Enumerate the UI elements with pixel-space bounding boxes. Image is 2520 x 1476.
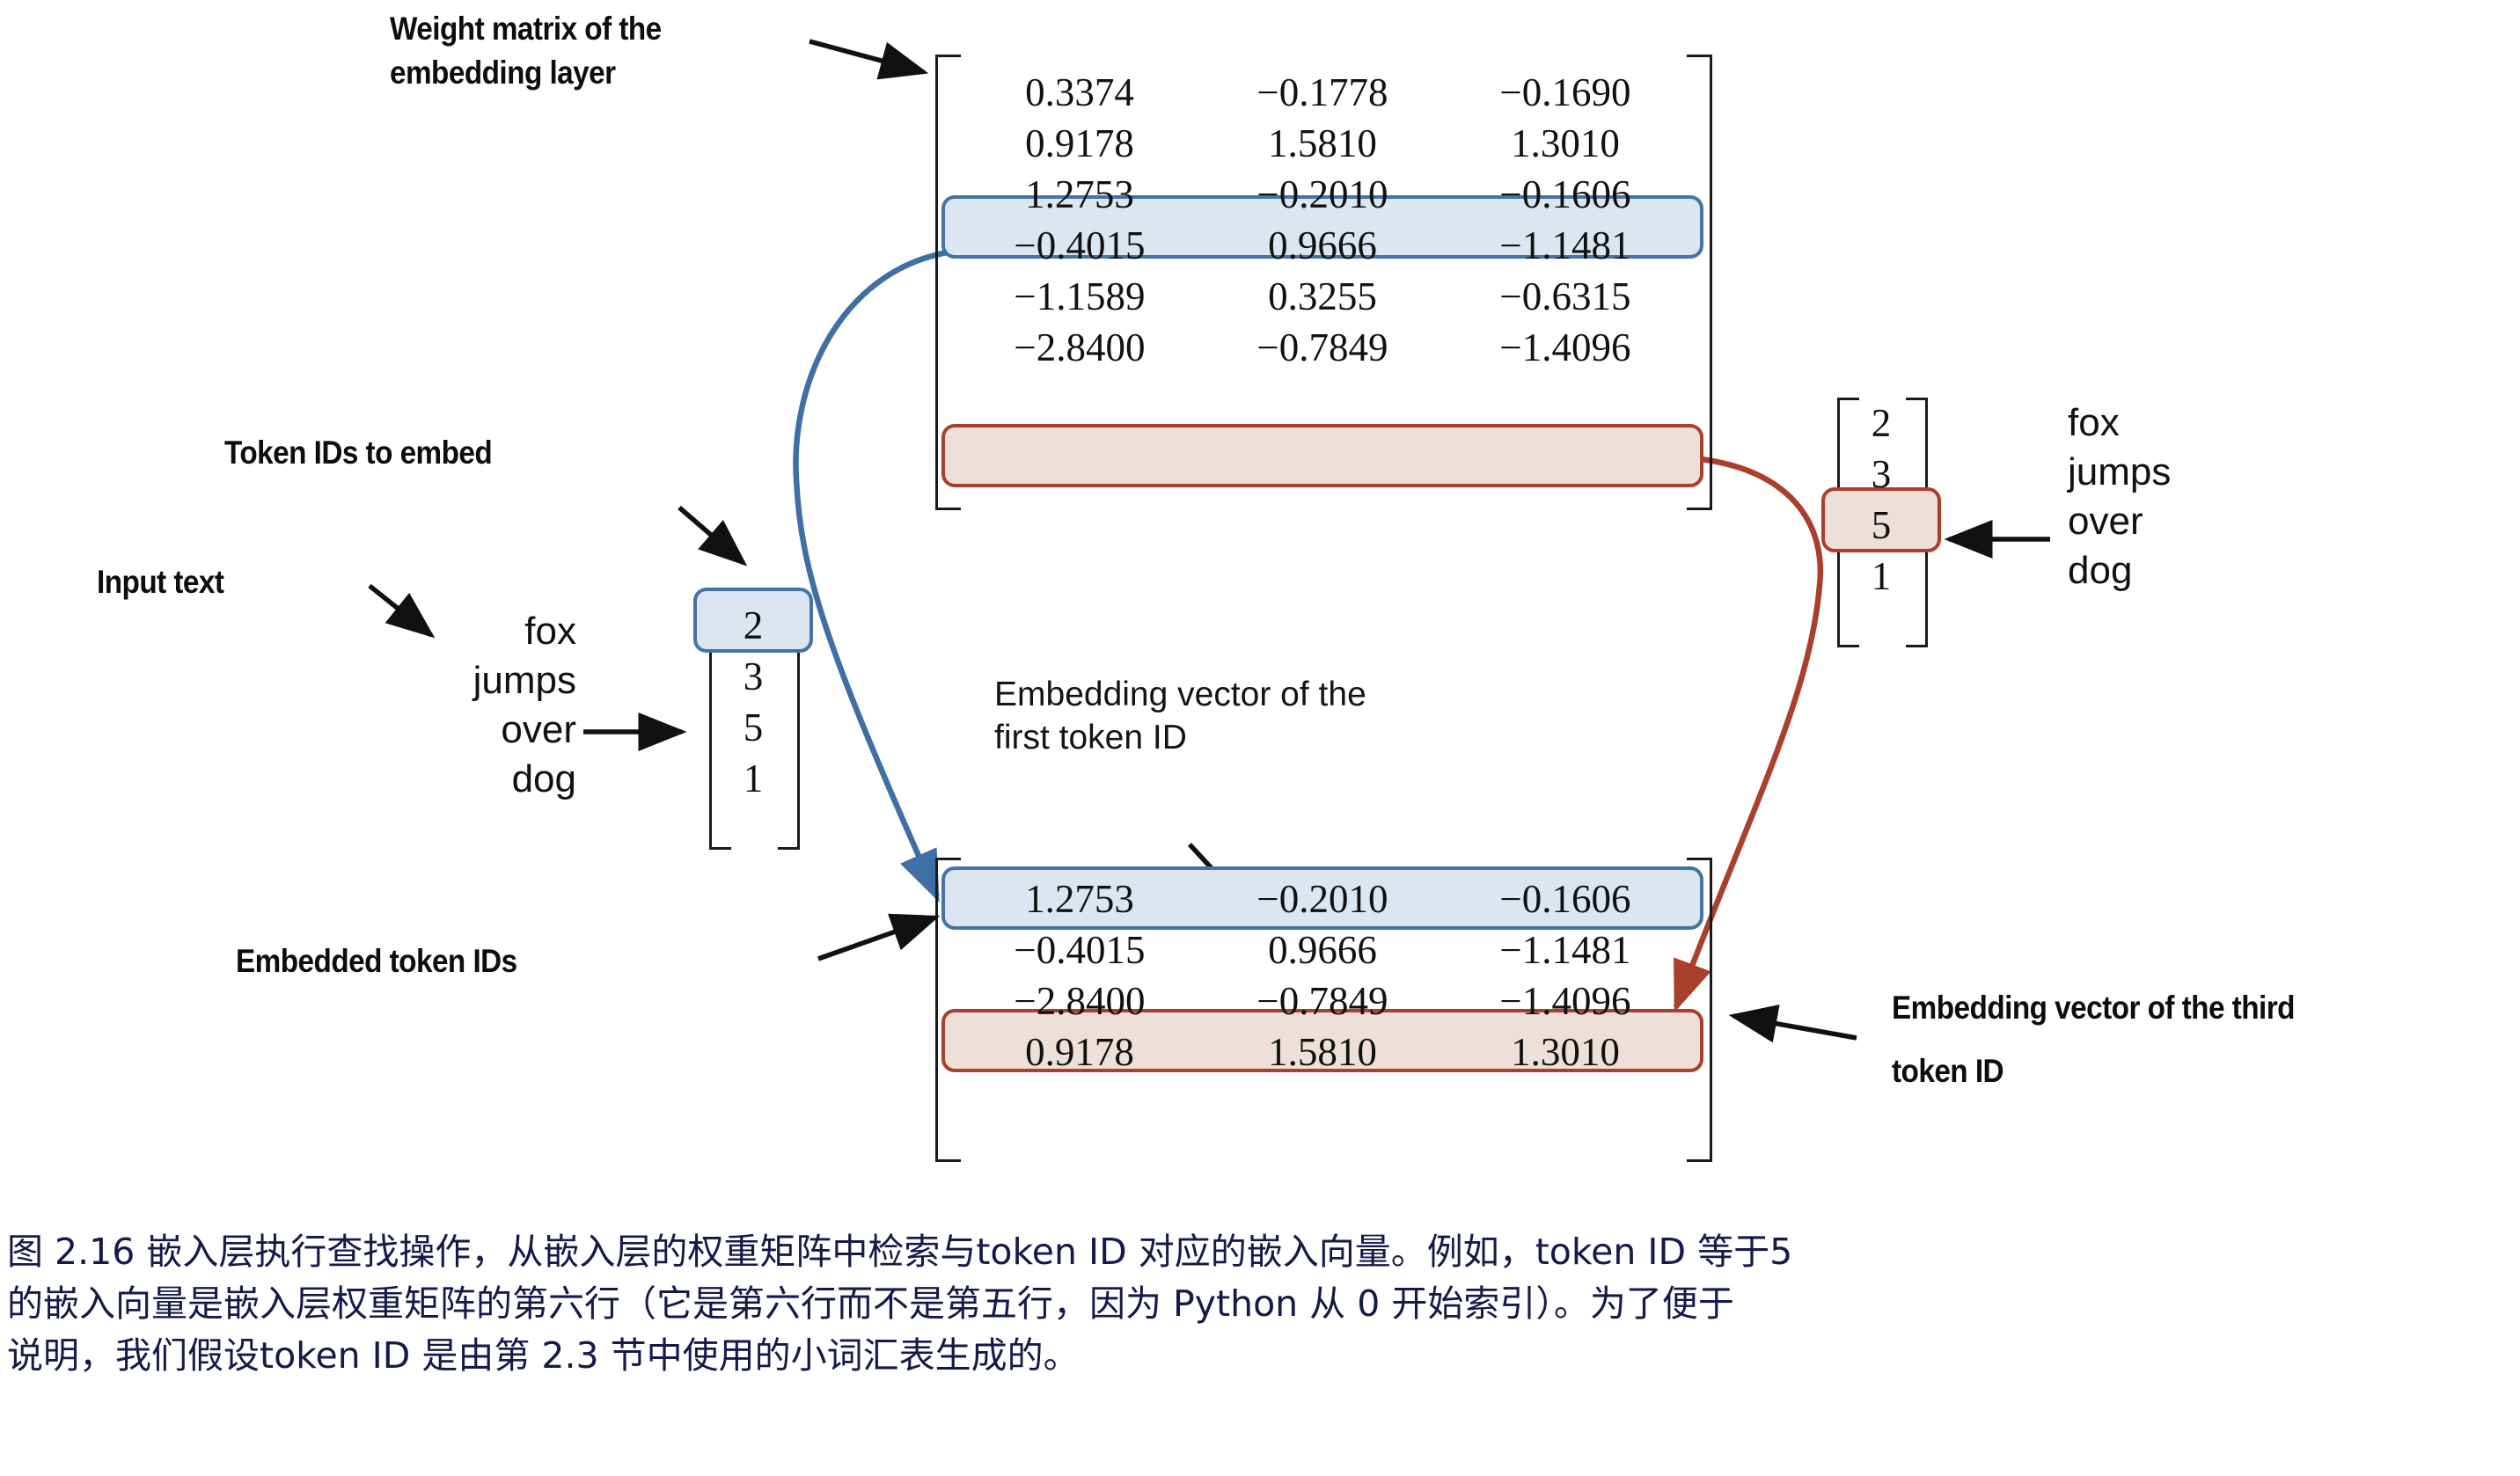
token-id-cell: 5 xyxy=(1837,500,1925,551)
arrow-weight-matrix xyxy=(809,41,924,72)
matrix-cell: 0.9666 xyxy=(1201,220,1444,271)
matrix-cell: −1.1589 xyxy=(958,271,1201,322)
matrix-row: 0.3374 −0.1778 −0.1690 xyxy=(958,67,1687,118)
caption-line: 图 2.16 嵌入层执行查找操作，从嵌入层的权重矩阵中检索与token ID 对… xyxy=(7,1226,2515,1278)
matrix-cell: −0.4015 xyxy=(958,924,1201,975)
weight-row-highlight-red xyxy=(941,424,1703,487)
matrix-cell: 1.2753 xyxy=(958,169,1201,220)
matrix-cell: −0.1690 xyxy=(1444,67,1687,118)
matrix-row: −1.1589 0.3255 −0.6315 xyxy=(958,271,1687,322)
label-token-ids-to-embed: Token IDs to embed xyxy=(224,431,668,475)
token-id-cell: 3 xyxy=(709,651,797,702)
input-word: over xyxy=(387,705,576,755)
input-word: fox xyxy=(387,607,576,656)
token-id-cell: 1 xyxy=(1837,551,1925,602)
token-id-cell: 1 xyxy=(709,753,797,804)
matrix-cell: −0.2010 xyxy=(1201,873,1444,924)
input-word: dog xyxy=(387,755,576,804)
matrix-cell: −0.6315 xyxy=(1444,271,1687,322)
token-id-cell: 2 xyxy=(709,600,797,651)
matrix-cell: 1.3010 xyxy=(1444,118,1687,169)
token-id-cell: 5 xyxy=(709,702,797,753)
matrix-cell: 0.9666 xyxy=(1201,924,1444,975)
matrix-cell: −1.1481 xyxy=(1444,924,1687,975)
caption-line: 的嵌入向量是嵌入层权重矩阵的第六行（它是第六行而不是第五行，因为 Python … xyxy=(7,1278,2515,1330)
right-word: over xyxy=(2068,497,2288,546)
matrix-cell: −0.2010 xyxy=(1201,169,1444,220)
matrix-cell: 0.3255 xyxy=(1201,271,1444,322)
matrix-cell: −1.4096 xyxy=(1444,975,1687,1027)
matrix-cell: −2.8400 xyxy=(958,975,1201,1027)
input-word: jumps xyxy=(387,656,576,705)
arrow-token-ids xyxy=(679,508,744,563)
caption-line: 说明，我们假设token ID 是由第 2.3 节中使用的小词汇表生成的。 xyxy=(7,1330,2515,1382)
matrix-cell: −1.4096 xyxy=(1444,322,1687,373)
token-id-cell: 2 xyxy=(1837,398,1925,449)
matrix-row: 0.9178 1.5810 1.3010 xyxy=(958,1027,1687,1078)
matrix-row: −0.4015 0.9666 −1.1481 xyxy=(958,924,1687,975)
matrix-cell: 1.2753 xyxy=(958,873,1201,924)
matrix-cell: −0.4015 xyxy=(958,220,1201,271)
matrix-cell: 0.3374 xyxy=(958,67,1201,118)
matrix-row: 1.2753 −0.2010 −0.1606 xyxy=(958,169,1687,220)
matrix-row: 1.2753 −0.2010 −0.1606 xyxy=(958,873,1687,924)
matrix-cell: −0.1606 xyxy=(1444,873,1687,924)
arrow-embedded-token-ids xyxy=(818,917,935,959)
matrix-cell: −0.7849 xyxy=(1201,322,1444,373)
matrix-cell: −0.1606 xyxy=(1444,169,1687,220)
label-embedding-vector-third: Embedding vector of the third token ID xyxy=(1892,976,2462,1103)
right-word: fox xyxy=(2068,398,2288,448)
right-words: fox jumps over dog xyxy=(2068,398,2288,596)
matrix-cell: 1.3010 xyxy=(1444,1027,1687,1078)
matrix-cell: −2.8400 xyxy=(958,322,1201,373)
matrix-row: −0.4015 0.9666 −1.1481 xyxy=(958,220,1687,271)
label-input-text: Input text xyxy=(97,560,358,604)
matrix-cell: 1.5810 xyxy=(1201,118,1444,169)
matrix-cell: 1.5810 xyxy=(1201,1027,1444,1078)
matrix-row: 0.9178 1.5810 1.3010 xyxy=(958,118,1687,169)
right-word: dog xyxy=(2068,546,2288,596)
matrix-cell: 0.9178 xyxy=(958,1027,1201,1078)
matrix-cell: −0.7849 xyxy=(1201,975,1444,1027)
token-id-cell: 3 xyxy=(1837,449,1925,500)
matrix-cell: −0.1778 xyxy=(1201,67,1444,118)
figure-caption: 图 2.16 嵌入层执行查找操作，从嵌入层的权重矩阵中检索与token ID 对… xyxy=(7,1226,2515,1382)
matrix-cell: 0.9178 xyxy=(958,118,1201,169)
matrix-row: −2.8400 −0.7849 −1.4096 xyxy=(958,322,1687,373)
label-embedded-token-ids: Embedded token IDs xyxy=(236,939,679,983)
matrix-row: −2.8400 −0.7849 −1.4096 xyxy=(958,975,1687,1027)
right-word: jumps xyxy=(2068,448,2288,497)
input-text-words: fox jumps over dog xyxy=(387,607,576,804)
label-weight-matrix: Weight matrix of the embedding layer xyxy=(390,7,802,95)
label-embedding-vector-first: Embedding vector of the first token ID xyxy=(994,673,1557,759)
arrow-third-token xyxy=(1733,1016,1857,1038)
matrix-cell: −1.1481 xyxy=(1444,220,1687,271)
